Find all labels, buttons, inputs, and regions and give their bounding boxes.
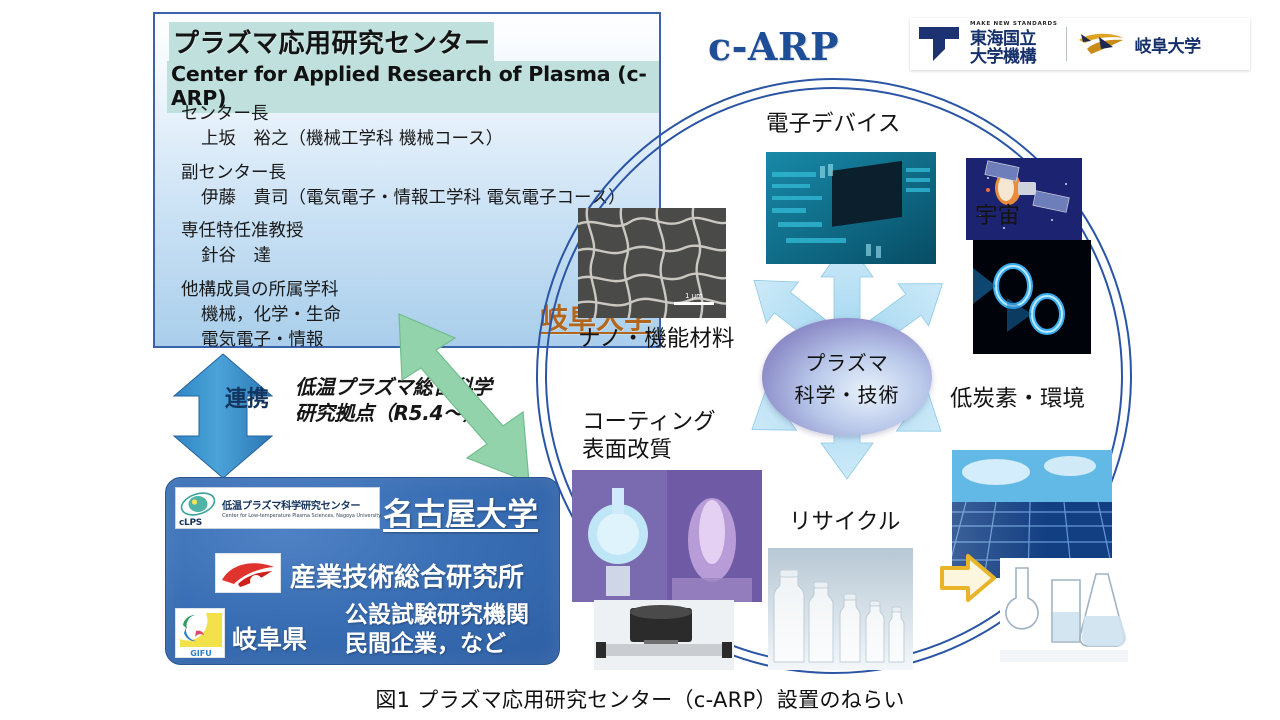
green-exchange-arrow-icon <box>383 300 549 496</box>
clps-name-en: Center for Low-temperature Plasma Scienc… <box>222 513 381 519</box>
recycle-output-arrow-icon <box>938 550 998 606</box>
figure-canvas: プラズマ応用研究センター Center for Applied Research… <box>0 0 1280 720</box>
label-electronic-devices: 電子デバイス <box>766 110 900 138</box>
panel-title-jp: プラズマ応用研究センター <box>169 22 494 62</box>
thers-mark-icon <box>916 23 962 65</box>
label-space: 宇宙 <box>975 202 1020 230</box>
partner-extra-line-1: 公設試験研究機関 <box>345 601 529 630</box>
figure-caption: 図1 プラズマ応用研究センター（c-ARP）設置のねらい <box>0 684 1280 714</box>
logo-divider <box>1066 27 1067 61</box>
gifu-prefecture-label: 岐阜県 <box>232 620 307 656</box>
clps-text: 低温プラズマ科学研究センター Center for Low-temperatur… <box>220 497 381 519</box>
label-coating-surface: コーティング 表面改質 <box>582 408 716 464</box>
carp-heading: c-ARP <box>708 24 839 69</box>
label-low-carbon-environment: 低炭素・環境 <box>950 385 1085 413</box>
thers-tagline: MAKE NEW STANDARDS <box>970 22 1058 28</box>
core-label-line-2: 科学・技術 <box>795 379 900 408</box>
ion-thruster-photo <box>973 240 1091 354</box>
laboratory-glassware-photo <box>1000 558 1128 662</box>
organization-logos: MAKE NEW STANDARDS 東海国立 大学機構 岐阜大学 <box>910 18 1250 70</box>
svg-text:1 μm: 1 μm <box>685 292 703 300</box>
partner-extra-line-2: 民間企業，など <box>345 630 529 659</box>
clps-name-jp: 低温プラズマ科学研究センター <box>222 497 381 512</box>
electronic-device-photo <box>766 152 936 264</box>
plasma-core-node: プラズマ 科学・技術 <box>762 318 932 436</box>
collaboration-double-arrow-icon <box>168 352 278 480</box>
clps-mark-icon: cLPS <box>176 488 220 528</box>
machined-part-photo <box>594 600 734 670</box>
coating-line-2: 表面改質 <box>582 436 716 464</box>
thers-name-line-2: 大学機構 <box>970 48 1058 66</box>
clps-logo: cLPS 低温プラズマ科学研究センター Center for Low-tempe… <box>175 487 380 529</box>
partner-extra-text: 公設試験研究機関 民間企業，など <box>345 601 529 660</box>
nagoya-university-label: 名古屋大学 <box>383 489 538 534</box>
gifu-university-logo-label: 岐阜大学 <box>1135 32 1201 57</box>
svg-text:GIFU: GIFU <box>190 649 212 658</box>
gifu-prefecture-logo-icon: GIFU <box>175 608 225 658</box>
aist-label: 産業技術総合研究所 <box>290 557 524 594</box>
thers-text: MAKE NEW STANDARDS 東海国立 大学機構 <box>970 22 1058 66</box>
coating-line-1: コーティング <box>582 408 716 436</box>
aist-logo-icon <box>215 553 281 593</box>
clps-abbr: cLPS <box>179 518 202 528</box>
label-recycle: リサイクル <box>789 508 900 536</box>
gifu-university-mark-icon <box>1075 31 1127 57</box>
collaboration-label: 連携 <box>205 381 289 413</box>
core-label-line-1: プラズマ <box>805 347 889 376</box>
plasma-discharge-photo <box>572 470 762 602</box>
nano-material-sem-photo: 1 μm <box>578 208 726 318</box>
thers-name-line-1: 東海国立 <box>970 30 1058 48</box>
pet-bottles-photo <box>768 548 913 670</box>
label-nano-functional-materials: ナノ・機能材料 <box>578 325 734 353</box>
